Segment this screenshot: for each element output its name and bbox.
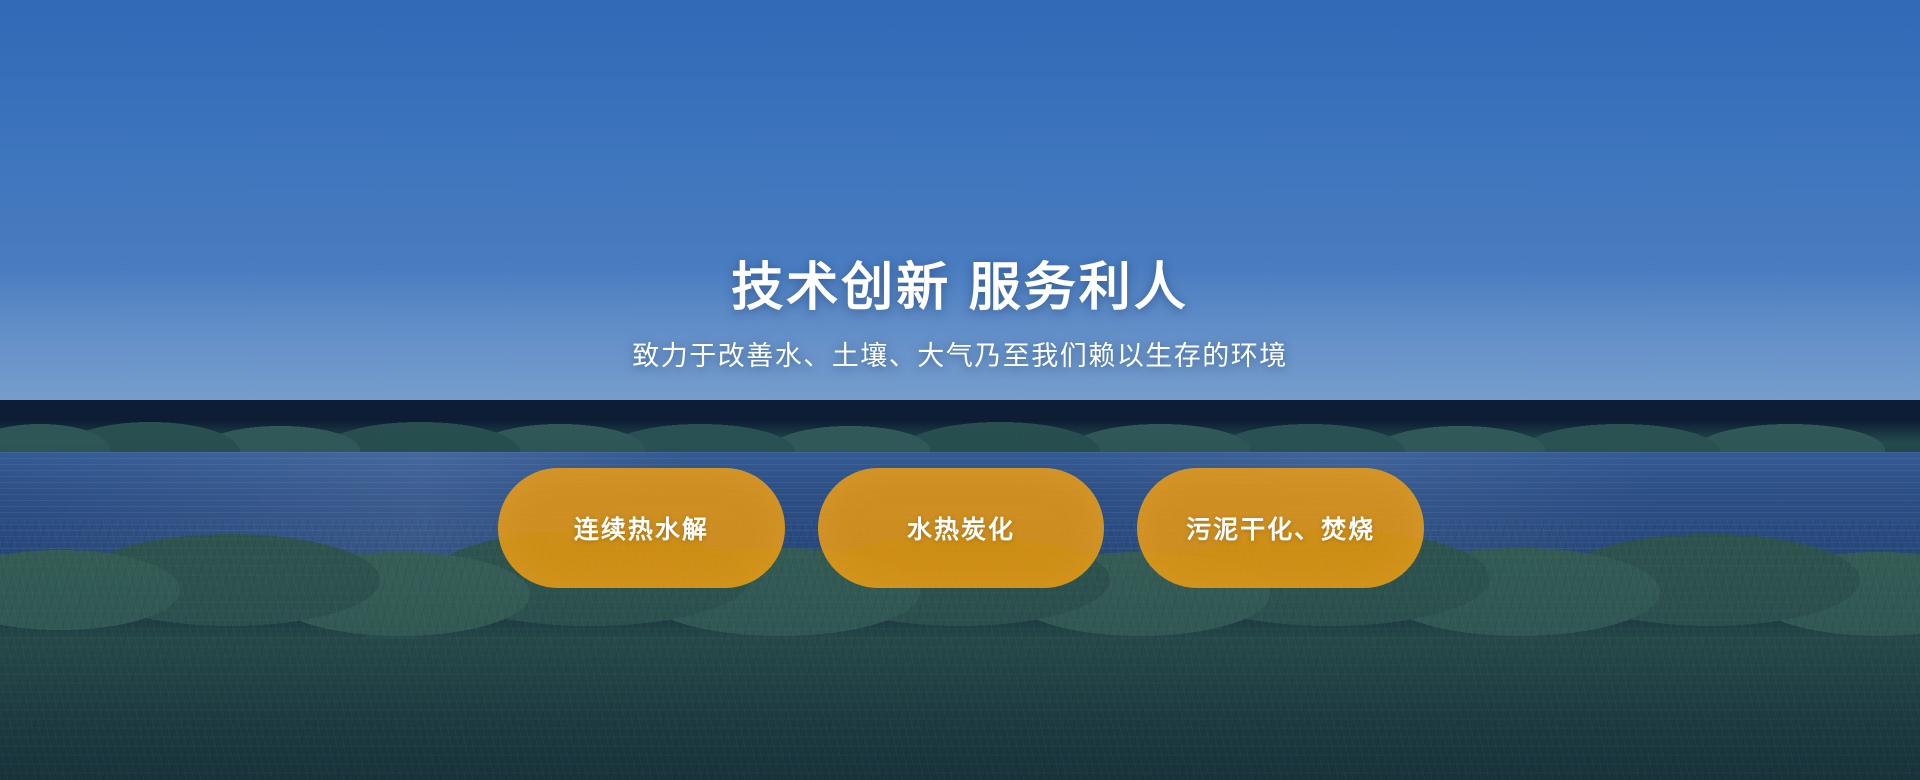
hero-banner: 技术创新 服务利人 致力于改善水、土壤、大气乃至我们赖以生存的环境 连续热水解 …: [0, 0, 1920, 780]
cta-button-sludge-drying-incineration[interactable]: 污泥干化、焚烧: [1137, 468, 1424, 588]
blue-tint-overlay: [0, 0, 1920, 780]
hero-cta-row: 连续热水解 水热炭化 污泥干化、焚烧: [498, 468, 1424, 588]
cta-button-hydrothermal-carbonization[interactable]: 水热炭化: [818, 468, 1105, 588]
hero-text-block: 技术创新 服务利人 致力于改善水、土壤、大气乃至我们赖以生存的环境: [0, 258, 1920, 374]
hero-headline: 技术创新 服务利人: [0, 258, 1920, 319]
hero-subheadline: 致力于改善水、土壤、大气乃至我们赖以生存的环境: [0, 339, 1920, 374]
cta-button-continuous-thermal-hydrolysis[interactable]: 连续热水解: [498, 468, 785, 588]
